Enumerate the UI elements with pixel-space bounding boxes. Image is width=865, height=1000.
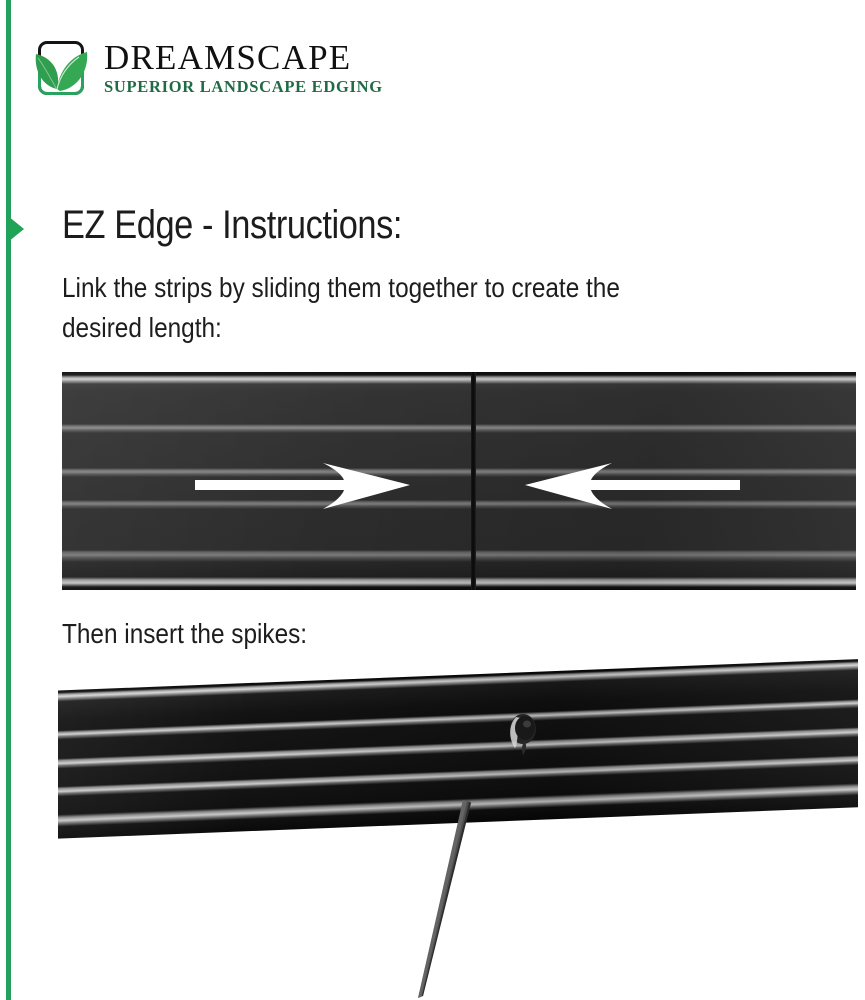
edging-strip-right [475, 372, 856, 590]
step-two-text: Then insert the spikes: [62, 618, 307, 650]
brand-wordmark: DREAMSCAPE SUPERIOR LANDSCAPE EDGING [104, 41, 383, 96]
edging-strip-left [62, 372, 473, 590]
two-leaves-in-rounded-square-icon [30, 38, 92, 100]
link-strips-photo [62, 372, 856, 590]
metal-spike-icon [395, 800, 515, 1000]
strip-seam [471, 372, 476, 590]
page-title: EZ Edge - Instructions: [62, 203, 402, 248]
step-one-text: Link the strips by sliding them together… [62, 268, 706, 348]
brand-tagline: SUPERIOR LANDSCAPE EDGING [104, 78, 383, 97]
brand-logo: DREAMSCAPE SUPERIOR LANDSCAPE EDGING [30, 38, 383, 100]
grommet-hole-icon [505, 712, 539, 756]
left-accent-rule [6, 0, 11, 1000]
leaf-icon [30, 44, 92, 96]
brand-name: DREAMSCAPE [104, 41, 383, 75]
right-triangle-marker-icon [8, 216, 24, 242]
